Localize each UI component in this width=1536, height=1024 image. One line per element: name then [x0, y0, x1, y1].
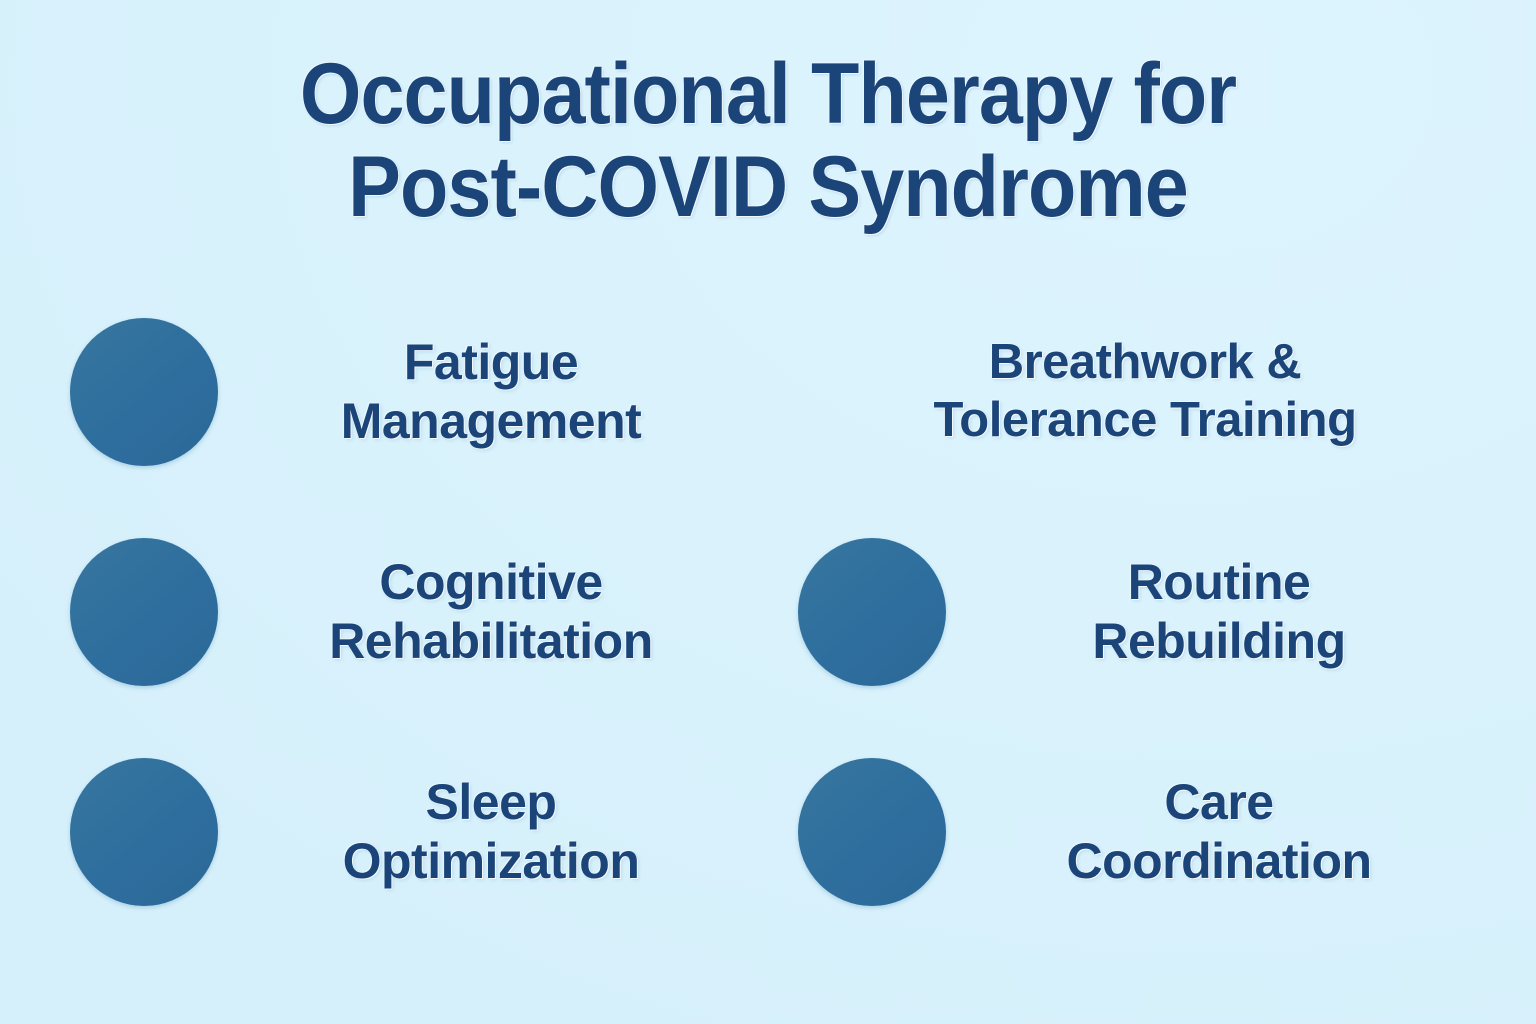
- list-item-label-line-1: Breathwork &: [989, 335, 1302, 389]
- list-item-label-line-2: Rehabilitation: [329, 613, 653, 669]
- list-item-label: Sleep Optimization: [244, 773, 738, 891]
- list-item-label: Care Coordination: [972, 773, 1466, 891]
- list-item-fatigue-management[interactable]: Fatigue Management: [60, 282, 748, 502]
- list-item-label-line-1: Cognitive: [379, 554, 602, 610]
- list-item-label: Cognitive Rehabilitation: [244, 553, 738, 671]
- title-line-1: Occupational Therapy for: [117, 48, 1420, 141]
- list-item-care-coordination[interactable]: Care Coordination: [788, 722, 1476, 942]
- filled-circle-bullet-icon: [70, 318, 218, 466]
- infographic-poster: Occupational Therapy for Post-COVID Synd…: [0, 0, 1536, 1024]
- list-item-label-line-2: Tolerance Training: [933, 393, 1356, 447]
- list-item-breathwork-tolerance-training[interactable]: Breathwork & Tolerance Training: [788, 282, 1476, 502]
- list-item-label-line-1: Routine: [1128, 554, 1311, 610]
- filled-circle-bullet-icon: [798, 758, 946, 906]
- filled-circle-bullet-icon: [70, 538, 218, 686]
- list-item-label-line-1: Fatigue: [404, 334, 578, 390]
- list-item-label-line-1: Care: [1164, 774, 1273, 830]
- list-item-label-line-2: Coordination: [1066, 833, 1371, 889]
- therapy-focus-list: Fatigue Management Breathwork & Toleranc…: [60, 282, 1476, 942]
- title-line-2: Post-COVID Syndrome: [117, 141, 1420, 234]
- list-item-label-line-2: Optimization: [343, 833, 640, 889]
- list-item-label-line-2: Rebuilding: [1092, 613, 1345, 669]
- page-title: Occupational Therapy for Post-COVID Synd…: [0, 48, 1536, 234]
- list-item-label: Breathwork & Tolerance Training: [824, 334, 1466, 450]
- list-item-label-line-1: Sleep: [426, 774, 557, 830]
- list-item-cognitive-rehabilitation[interactable]: Cognitive Rehabilitation: [60, 502, 748, 722]
- list-item-sleep-optimization[interactable]: Sleep Optimization: [60, 722, 748, 942]
- filled-circle-bullet-icon: [798, 538, 946, 686]
- list-item-label: Routine Rebuilding: [972, 553, 1466, 671]
- list-item-label: Fatigue Management: [244, 333, 738, 451]
- filled-circle-bullet-icon: [70, 758, 218, 906]
- list-item-label-line-2: Management: [341, 393, 642, 449]
- list-item-routine-rebuilding[interactable]: Routine Rebuilding: [788, 502, 1476, 722]
